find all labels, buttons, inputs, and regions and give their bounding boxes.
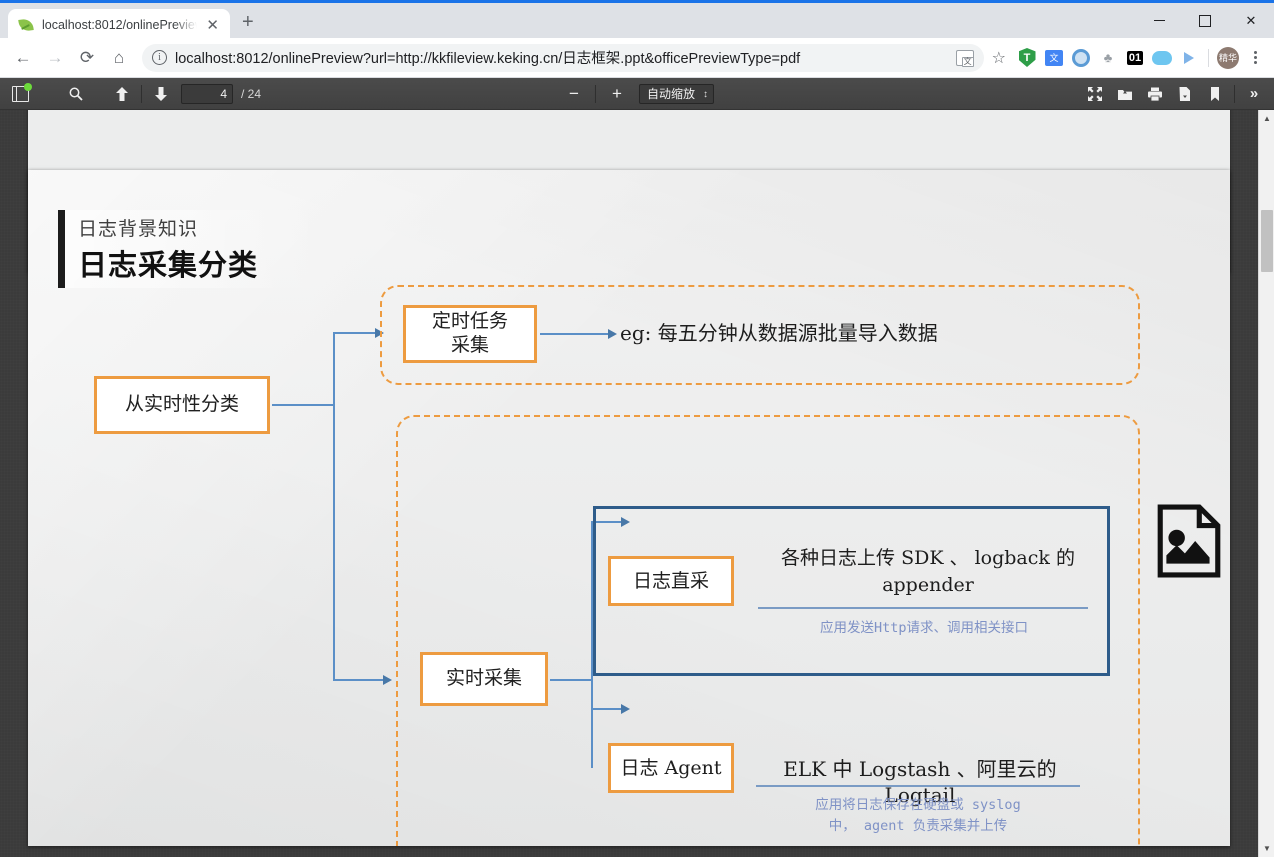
extensions-area: T 文 ♣ 01 精华 [1016,47,1266,69]
pdf-page-4: 日志背景知识 日志采集分类 从实时性分类 定时任务 采集 [28,170,1230,846]
zero-one-extension-icon[interactable]: 01 [1124,47,1146,69]
bookmark-star-icon[interactable]: ☆ [992,48,1006,68]
broken-image-icon [1156,504,1222,578]
toolbar-divider [595,85,596,103]
scroll-down-button[interactable]: ▼ [1259,840,1274,857]
direct-collection-description-line2: appender [758,573,1098,598]
open-file-icon[interactable] [1111,82,1139,106]
bird-extension-icon[interactable] [1178,47,1200,69]
root-category-box: 从实时性分类 [94,376,270,434]
arrowhead-realtime [383,675,392,685]
scrollbar-thumb[interactable] [1261,210,1273,272]
omnibox[interactable]: i localhost:8012/onlinePreview?url=http:… [142,44,984,72]
download-icon[interactable] [1171,82,1199,106]
arrowhead-scheduled-description [608,329,617,339]
root-category-label: 从实时性分类 [125,393,239,417]
pdf-viewer-toolbar: 4 / 24 − + 自动缩放 » [0,78,1274,110]
avatar[interactable]: 精华 [1217,47,1239,69]
agent-collection-underline [756,785,1080,787]
arrowhead-agent [621,704,630,714]
tab-strip: localhost:8012/onlinePreview? ✕ + [0,3,254,38]
next-page-icon[interactable] [147,82,175,106]
page-title: 日志采集分类 [78,242,258,284]
scroll-up-button[interactable]: ▲ [1259,110,1274,127]
more-tools-icon[interactable]: » [1240,82,1268,106]
cloud-extension-icon[interactable] [1151,47,1173,69]
page-number-input[interactable]: 4 [181,84,233,104]
direct-collection-description-line1: 各种日志上传 SDK 、 logback 的 [758,546,1098,571]
zoom-in-button[interactable]: + [603,82,631,106]
realtime-collection-box: 实时采集 [420,652,548,706]
agent-collection-box-label: 日志 Agent [608,743,734,793]
direct-collection-underline [758,607,1088,609]
home-icon[interactable]: ⌂ [104,43,134,73]
pdf-viewer-area[interactable]: 日志背景知识 日志采集分类 从实时性分类 定时任务 采集 [0,110,1274,857]
back-icon[interactable]: ← [8,43,38,73]
translate-icon[interactable] [956,50,974,66]
scheduled-description: eg: 每五分钟从数据源批量导入数据 [620,320,1040,346]
print-icon[interactable] [1141,82,1169,106]
zoom-out-button[interactable]: − [560,82,588,106]
scheduled-box-line1: 定时任务 [432,310,508,334]
address-bar-url[interactable]: localhost:8012/onlinePreview?url=http://… [175,47,948,68]
search-icon[interactable] [62,82,90,106]
vertical-scrollbar[interactable]: ▲ ▼ [1258,110,1274,857]
scheduled-box-line2: 采集 [451,334,489,358]
toolbar-divider [1234,85,1235,103]
slide-subtitle: 日志背景知识 [78,214,198,241]
sitemap-extension-icon[interactable]: ♣ [1097,47,1119,69]
scheduled-collection-box: 定时任务 采集 [403,305,537,363]
opera-circle-extension-icon[interactable] [1070,47,1092,69]
agent-collection-note-line1: 应用将日志保存在硬盘或 syslog [756,796,1080,816]
connector-to-realtime [333,679,383,681]
minimize-button[interactable] [1136,3,1182,38]
direct-collection-note: 应用发送Http请求、调用相关接口 [756,619,1092,639]
direct-collection-box-label: 日志直采 [608,556,734,606]
forward-icon[interactable]: → [40,43,70,73]
zoom-level-select[interactable]: 自动缩放 [639,84,714,104]
page-count-label: / 24 [241,87,261,101]
shield-extension-icon[interactable]: T [1016,47,1038,69]
slide-title-block: 日志背景知识 日志采集分类 [58,210,328,288]
connector-realtime-horizontal [550,679,592,681]
close-tab-icon[interactable]: ✕ [205,18,220,33]
leaf-icon [18,17,34,33]
connector-scheduled-description [540,333,608,335]
page-info-icon[interactable]: i [152,50,167,65]
presentation-mode-icon[interactable] [1081,82,1109,106]
connector-to-scheduled [333,332,375,334]
connector-trunk-vertical [333,332,335,680]
new-tab-button[interactable]: + [242,12,254,32]
browser-toolbar: ← → ⟳ ⌂ i localhost:8012/onlinePreview?u… [0,38,1274,78]
title-bar: localhost:8012/onlinePreview? ✕ + ✕ [0,0,1274,38]
toolbar-divider [141,85,142,103]
window-controls: ✕ [1136,3,1274,38]
close-window-button[interactable]: ✕ [1228,3,1274,38]
pdf-toolbar-center: − + 自动缩放 [560,82,714,106]
toolbar-divider [1208,49,1209,67]
previous-page-icon[interactable] [108,82,136,106]
sidebar-toggle-icon[interactable] [6,82,34,106]
connector-to-agent [591,708,621,710]
pdf-toolbar-left: 4 / 24 [6,82,261,106]
connector-root-horizontal [272,404,334,406]
agent-collection-note-line2: 中， agent 负责采集并上传 [756,817,1080,837]
tab-title: localhost:8012/onlinePreview? [42,18,197,32]
google-translate-extension-icon[interactable]: 文 [1043,47,1065,69]
reload-icon[interactable]: ⟳ [72,43,102,73]
pdf-toolbar-right: » [1081,82,1268,106]
maximize-button[interactable] [1182,3,1228,38]
title-accent-bar [58,210,65,288]
bookmark-icon[interactable] [1201,82,1229,106]
realtime-box-label: 实时采集 [446,667,522,691]
chrome-menu-icon[interactable] [1244,50,1266,65]
browser-tab[interactable]: localhost:8012/onlinePreview? ✕ [8,9,230,41]
browser-window: localhost:8012/onlinePreview? ✕ + ✕ ← → … [0,0,1274,857]
